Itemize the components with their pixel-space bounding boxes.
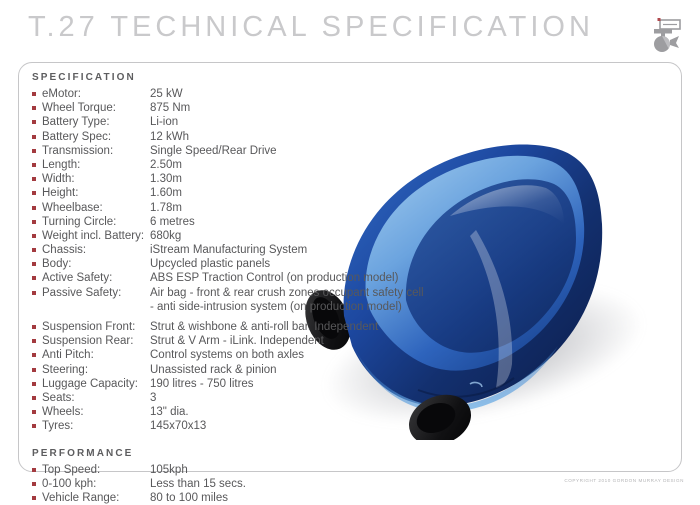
spec-label: Tyres: bbox=[42, 419, 150, 433]
bullet-icon bbox=[32, 424, 36, 428]
spec-value: 13" dia. bbox=[150, 405, 189, 419]
spec-row-height: Height: 1.60m bbox=[32, 186, 462, 200]
specification-content: SPECIFICATION eMotor: 25 kW Wheel Torque… bbox=[32, 72, 462, 505]
perf-row-acceleration: 0-100 kph: Less than 15 secs. bbox=[32, 477, 462, 491]
spec-label: Suspension Front: bbox=[42, 320, 150, 334]
spec-value: Unassisted rack & pinion bbox=[150, 363, 277, 377]
spec-row-battery-type: Battery Type: Li-ion bbox=[32, 115, 462, 129]
bullet-icon bbox=[32, 482, 36, 486]
spec-label: Turning Circle: bbox=[42, 215, 150, 229]
spec-label: Active Safety: bbox=[42, 271, 150, 285]
spec-label: Wheels: bbox=[42, 405, 150, 419]
bullet-icon bbox=[32, 234, 36, 238]
spec-row-tyres: Tyres: 145x70x13 bbox=[32, 419, 462, 433]
spec-label: Steering: bbox=[42, 363, 150, 377]
spec-label: Anti Pitch: bbox=[42, 348, 150, 362]
spec-row-wheels: Wheels: 13" dia. bbox=[32, 405, 462, 419]
page-header: T.27 TECHNICAL SPECIFICATION bbox=[0, 0, 700, 58]
spec-row-emotor: eMotor: 25 kW bbox=[32, 87, 462, 101]
bullet-icon bbox=[32, 325, 36, 329]
spec-row-steering: Steering: Unassisted rack & pinion bbox=[32, 363, 462, 377]
spec-label: Battery Spec: bbox=[42, 130, 150, 144]
spec-label: Body: bbox=[42, 257, 150, 271]
performance-heading: PERFORMANCE bbox=[32, 448, 462, 459]
specification-heading: SPECIFICATION bbox=[32, 72, 462, 83]
spec-value: Single Speed/Rear Drive bbox=[150, 144, 277, 158]
spec-value: 1.30m bbox=[150, 172, 182, 186]
bullet-icon bbox=[32, 382, 36, 386]
spec-label: Transmission: bbox=[42, 144, 150, 158]
spec-value: Strut & wishbone & anti-roll bar. Indepe… bbox=[150, 320, 378, 334]
spec-label: Battery Type: bbox=[42, 115, 150, 129]
spec-label: Luggage Capacity: bbox=[42, 377, 150, 391]
bullet-icon bbox=[32, 262, 36, 266]
spec-value: 6 metres bbox=[150, 215, 195, 229]
spec-row-luggage-capacity: Luggage Capacity: 190 litres - 750 litre… bbox=[32, 377, 462, 391]
copyright-notice: COPYRIGHT 2010 GORDON MURRAY DESIGN bbox=[564, 478, 684, 483]
bullet-icon bbox=[32, 276, 36, 280]
perf-row-top-speed: Top Speed: 105kph bbox=[32, 463, 462, 477]
bullet-icon bbox=[32, 163, 36, 167]
spec-value: 190 litres - 750 litres bbox=[150, 377, 254, 391]
bullet-icon bbox=[32, 106, 36, 110]
spec-value: 2.50m bbox=[150, 158, 182, 172]
perf-value: Less than 15 secs. bbox=[150, 477, 246, 491]
bullet-icon bbox=[32, 92, 36, 96]
specification-list: eMotor: 25 kW Wheel Torque: 875 Nm Batte… bbox=[32, 87, 462, 434]
spec-row-battery-spec: Battery Spec: 12 kWh bbox=[32, 130, 462, 144]
spec-value: 680kg bbox=[150, 229, 181, 243]
bullet-icon bbox=[32, 468, 36, 472]
spec-row-chassis: Chassis: iStream Manufacturing System bbox=[32, 243, 462, 257]
perf-value: 105kph bbox=[150, 463, 188, 477]
bullet-icon bbox=[32, 353, 36, 357]
perf-label: 0-100 kph: bbox=[42, 477, 150, 491]
spec-value-group: Air bag - front & rear crush zones occup… bbox=[150, 286, 424, 314]
bullet-icon bbox=[32, 135, 36, 139]
spec-value: 12 kWh bbox=[150, 130, 189, 144]
spec-row-weight: Weight incl. Battery: 680kg bbox=[32, 229, 462, 243]
bullet-icon bbox=[32, 120, 36, 124]
gordon-murray-design-logo bbox=[646, 14, 684, 54]
spec-value: 25 kW bbox=[150, 87, 183, 101]
spec-value: ABS ESP Traction Control (on production … bbox=[150, 271, 398, 285]
page-title: T.27 TECHNICAL SPECIFICATION bbox=[28, 11, 594, 44]
spec-value: 145x70x13 bbox=[150, 419, 206, 433]
spec-value: Strut & V Arm - iLink. Independent bbox=[150, 334, 324, 348]
spec-label: Wheel Torque: bbox=[42, 101, 150, 115]
spec-row-seats: Seats: 3 bbox=[32, 391, 462, 405]
spec-label: Width: bbox=[42, 172, 150, 186]
spec-value: Upcycled plastic panels bbox=[150, 257, 270, 271]
spec-label: Height: bbox=[42, 186, 150, 200]
spec-row-anti-pitch: Anti Pitch: Control systems on both axle… bbox=[32, 348, 462, 362]
spec-value: Li-ion bbox=[150, 115, 178, 129]
spec-value: 1.60m bbox=[150, 186, 182, 200]
bullet-icon bbox=[32, 410, 36, 414]
perf-value: 80 to 100 miles bbox=[150, 491, 228, 505]
spec-row-active-safety: Active Safety: ABS ESP Traction Control … bbox=[32, 271, 462, 285]
bullet-icon bbox=[32, 220, 36, 224]
bullet-icon bbox=[32, 248, 36, 252]
bullet-icon bbox=[32, 206, 36, 210]
spec-value-line2: - anti side-intrusion system (on product… bbox=[150, 300, 424, 314]
spec-label: Weight incl. Battery: bbox=[42, 229, 150, 243]
spec-label: Suspension Rear: bbox=[42, 334, 150, 348]
bullet-icon bbox=[32, 396, 36, 400]
bullet-icon bbox=[32, 191, 36, 195]
spec-row-turning-circle: Turning Circle: 6 metres bbox=[32, 215, 462, 229]
spec-label: eMotor: bbox=[42, 87, 150, 101]
spec-value: iStream Manufacturing System bbox=[150, 243, 307, 257]
spec-label: Length: bbox=[42, 158, 150, 172]
bullet-icon bbox=[32, 496, 36, 500]
spec-row-length: Length: 2.50m bbox=[32, 158, 462, 172]
spec-value: 3 bbox=[150, 391, 156, 405]
spec-label: Wheelbase: bbox=[42, 201, 150, 215]
spec-row-transmission: Transmission: Single Speed/Rear Drive bbox=[32, 144, 462, 158]
spec-value: 875 Nm bbox=[150, 101, 190, 115]
spec-label: Chassis: bbox=[42, 243, 150, 257]
spec-value: 1.78m bbox=[150, 201, 182, 215]
bullet-icon bbox=[32, 177, 36, 181]
perf-label: Vehicle Range: bbox=[42, 491, 150, 505]
spec-value: Control systems on both axles bbox=[150, 348, 304, 362]
bullet-icon bbox=[32, 291, 36, 295]
bullet-icon bbox=[32, 149, 36, 153]
spec-row-wheel-torque: Wheel Torque: 875 Nm bbox=[32, 101, 462, 115]
perf-row-vehicle-range: Vehicle Range: 80 to 100 miles bbox=[32, 491, 462, 505]
spec-label: Seats: bbox=[42, 391, 150, 405]
spec-row-body: Body: Upcycled plastic panels bbox=[32, 257, 462, 271]
spec-row-passive-safety: Passive Safety: Air bag - front & rear c… bbox=[32, 286, 462, 314]
spec-row-suspension-rear: Suspension Rear: Strut & V Arm - iLink. … bbox=[32, 334, 462, 348]
spec-value-line1: Air bag - front & rear crush zones occup… bbox=[150, 286, 424, 300]
spec-row-suspension-front: Suspension Front: Strut & wishbone & ant… bbox=[32, 320, 462, 334]
bullet-icon bbox=[32, 339, 36, 343]
spec-row-width: Width: 1.30m bbox=[32, 172, 462, 186]
spec-row-wheelbase: Wheelbase: 1.78m bbox=[32, 201, 462, 215]
bullet-icon bbox=[32, 368, 36, 372]
performance-list: Top Speed: 105kph 0-100 kph: Less than 1… bbox=[32, 463, 462, 505]
spec-label: Passive Safety: bbox=[42, 286, 150, 300]
perf-label: Top Speed: bbox=[42, 463, 150, 477]
